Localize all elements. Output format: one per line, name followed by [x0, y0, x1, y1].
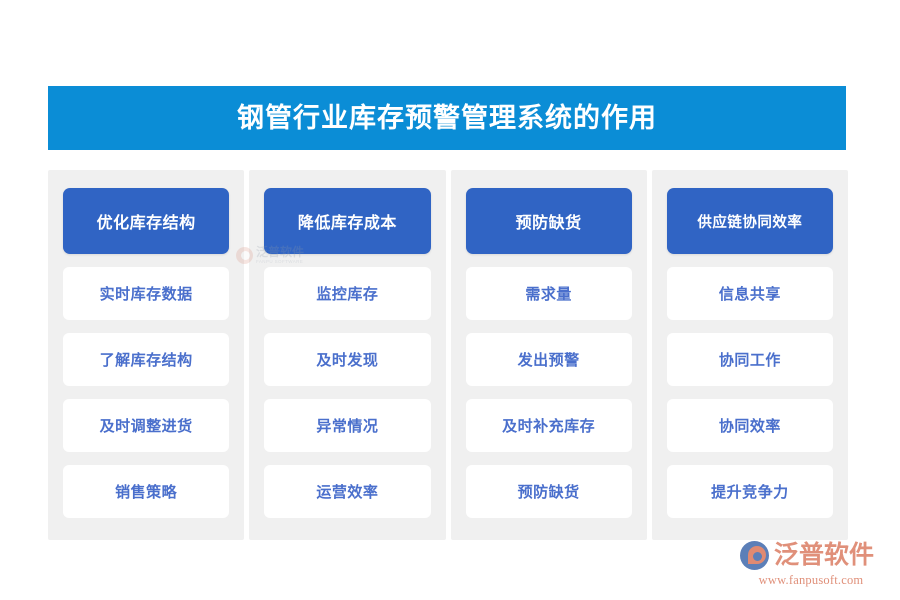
column-3-item-1[interactable]: 需求量 — [466, 267, 632, 320]
banner: 钢管行业库存预警管理系统的作用 — [48, 86, 846, 150]
column-3: 预防缺货 需求量 发出预警 及时补充库存 预防缺货 — [451, 170, 647, 540]
column-4-item-1[interactable]: 信息共享 — [667, 267, 833, 320]
fanpu-logo-icon — [740, 541, 769, 570]
column-4-item-2[interactable]: 协同工作 — [667, 333, 833, 386]
column-1: 优化库存结构 实时库存数据 了解库存结构 及时调整进货 销售策略 — [48, 170, 244, 540]
column-4: 供应链协同效率 信息共享 协同工作 协同效率 提升竞争力 — [652, 170, 848, 540]
column-1-header[interactable]: 优化库存结构 — [63, 188, 229, 254]
brand-logo-row: 泛普软件 — [740, 540, 882, 570]
column-2-item-4[interactable]: 运营效率 — [264, 465, 430, 518]
column-2-item-1[interactable]: 监控库存 — [264, 267, 430, 320]
column-3-item-2[interactable]: 发出预警 — [466, 333, 632, 386]
column-2-header[interactable]: 降低库存成本 — [264, 188, 430, 254]
column-1-item-4[interactable]: 销售策略 — [63, 465, 229, 518]
column-1-item-2[interactable]: 了解库存结构 — [63, 333, 229, 386]
column-1-item-1[interactable]: 实时库存数据 — [63, 267, 229, 320]
column-4-item-4[interactable]: 提升竞争力 — [667, 465, 833, 518]
column-1-item-3[interactable]: 及时调整进货 — [63, 399, 229, 452]
column-2: 降低库存成本 监控库存 及时发现 异常情况 运营效率 — [249, 170, 445, 540]
brand-url: www.fanpusoft.com — [740, 573, 882, 588]
infographic-page: 钢管行业库存预警管理系统的作用 优化库存结构 实时库存数据 了解库存结构 及时调… — [0, 0, 900, 600]
column-4-item-3[interactable]: 协同效率 — [667, 399, 833, 452]
column-3-item-3[interactable]: 及时补充库存 — [466, 399, 632, 452]
brand-logo: 泛普软件 www.fanpusoft.com — [740, 540, 882, 588]
brand-name: 泛普软件 — [774, 543, 874, 568]
column-3-item-4[interactable]: 预防缺货 — [466, 465, 632, 518]
column-2-item-3[interactable]: 异常情况 — [264, 399, 430, 452]
column-4-header[interactable]: 供应链协同效率 — [667, 188, 833, 254]
column-2-item-2[interactable]: 及时发现 — [264, 333, 430, 386]
column-3-header[interactable]: 预防缺货 — [466, 188, 632, 254]
page-title: 钢管行业库存预警管理系统的作用 — [237, 105, 657, 132]
columns-row: 优化库存结构 实时库存数据 了解库存结构 及时调整进货 销售策略 降低库存成本 … — [48, 170, 848, 540]
